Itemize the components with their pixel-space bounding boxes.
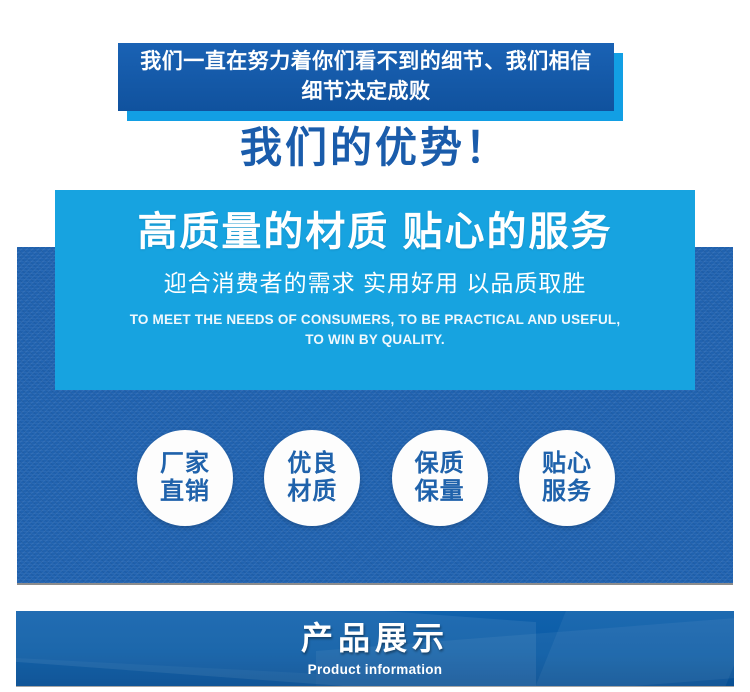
feature-circle-line-1: 厂家	[160, 450, 210, 478]
product-title-chinese: 产品展示	[301, 619, 449, 657]
slogan-banner-box: 我们一直在努力着你们看不到的细节、我们相信 细节决定成败	[118, 43, 614, 111]
product-section-banner: 产品展示 Product information	[16, 611, 734, 686]
feature-circle-caring-service[interactable]: 贴心 服务	[519, 430, 615, 526]
promo-banner-page: 我们一直在努力着你们看不到的细节、我们相信 细节决定成败 我们的优势！ 高质量的…	[0, 0, 750, 692]
quality-english-line-1: TO MEET THE NEEDS OF CONSUMERS, TO BE PR…	[130, 310, 621, 330]
quality-english-line-2: TO WIN BY QUALITY.	[305, 330, 445, 350]
feature-circle-line-1: 优良	[287, 450, 337, 478]
feature-circle-line-2: 直销	[160, 478, 210, 506]
slogan-line-2: 细节决定成败	[302, 77, 431, 107]
product-title-english: Product information	[308, 661, 443, 679]
feature-circle-factory-direct[interactable]: 厂家 直销	[137, 430, 233, 526]
feature-circle-line-2: 保量	[415, 478, 465, 506]
feature-circle-line-1: 贴心	[542, 450, 592, 478]
feature-circle-quality-material[interactable]: 优良 材质	[264, 430, 360, 526]
feature-circle-line-2: 材质	[287, 478, 337, 506]
quality-highlight-box: 高质量的材质 贴心的服务 迎合消费者的需求 实用好用 以品质取胜 TO MEET…	[55, 190, 695, 390]
feature-circle-line-1: 保质	[415, 450, 465, 478]
quality-subheading: 迎合消费者的需求 实用好用 以品质取胜	[164, 266, 587, 300]
feature-circle-line-2: 服务	[542, 478, 592, 506]
feature-circles-row: 厂家 直销 优良 材质 保质 保量 贴心 服务	[137, 430, 615, 526]
slogan-line-1: 我们一直在努力着你们看不到的细节、我们相信	[140, 47, 592, 77]
advantage-section-title: 我们的优势！	[0, 122, 750, 176]
quality-heading: 高质量的材质 贴心的服务	[137, 206, 612, 258]
product-banner-text: 产品展示 Product information	[16, 611, 734, 686]
feature-circle-guaranteed-quality[interactable]: 保质 保量	[392, 430, 488, 526]
slogan-banner: 我们一直在努力着你们看不到的细节、我们相信 细节决定成败	[118, 43, 614, 111]
